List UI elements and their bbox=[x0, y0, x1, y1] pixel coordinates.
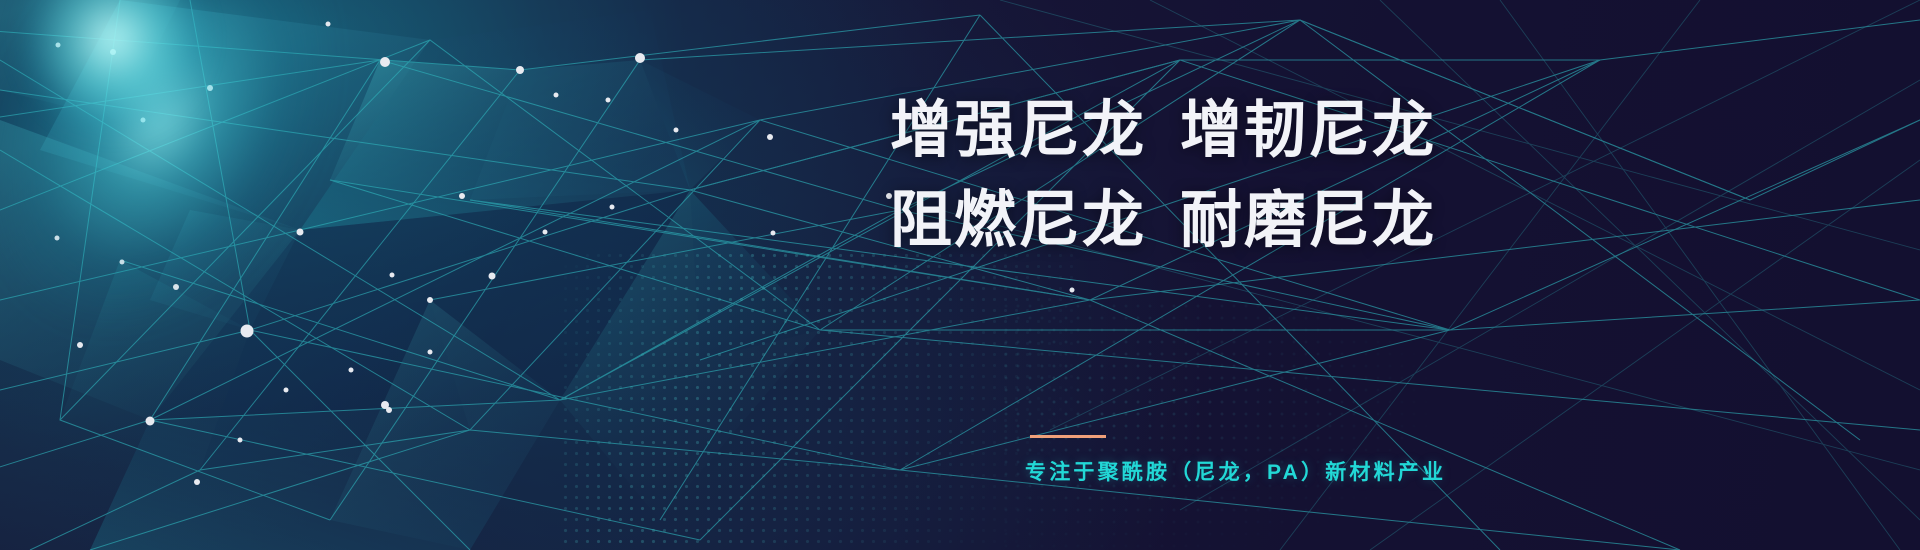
subtitle-divider-rule bbox=[1030, 435, 1106, 438]
headline-line-1-part-2: 增韧尼龙 bbox=[1180, 96, 1436, 165]
headline-line-2-part-1: 阻燃尼龙 bbox=[890, 186, 1146, 255]
headline-line-2-part-2: 耐磨尼龙 bbox=[1180, 186, 1436, 255]
headline-line-2: 阻燃尼龙耐磨尼龙 bbox=[890, 190, 1436, 252]
headline-line-1: 增强尼龙增韧尼龙 bbox=[890, 100, 1436, 162]
headline-line-1-part-1: 增强尼龙 bbox=[890, 96, 1146, 165]
subtitle-text: 专注于聚酰胺（尼龙，PA）新材料产业 bbox=[1025, 456, 1446, 486]
hero-banner: 增强尼龙增韧尼龙 阻燃尼龙耐磨尼龙 专注于聚酰胺（尼龙，PA）新材料产业 bbox=[0, 0, 1920, 550]
banner-content: 增强尼龙增韧尼龙 阻燃尼龙耐磨尼龙 专注于聚酰胺（尼龙，PA）新材料产业 bbox=[0, 0, 1920, 550]
